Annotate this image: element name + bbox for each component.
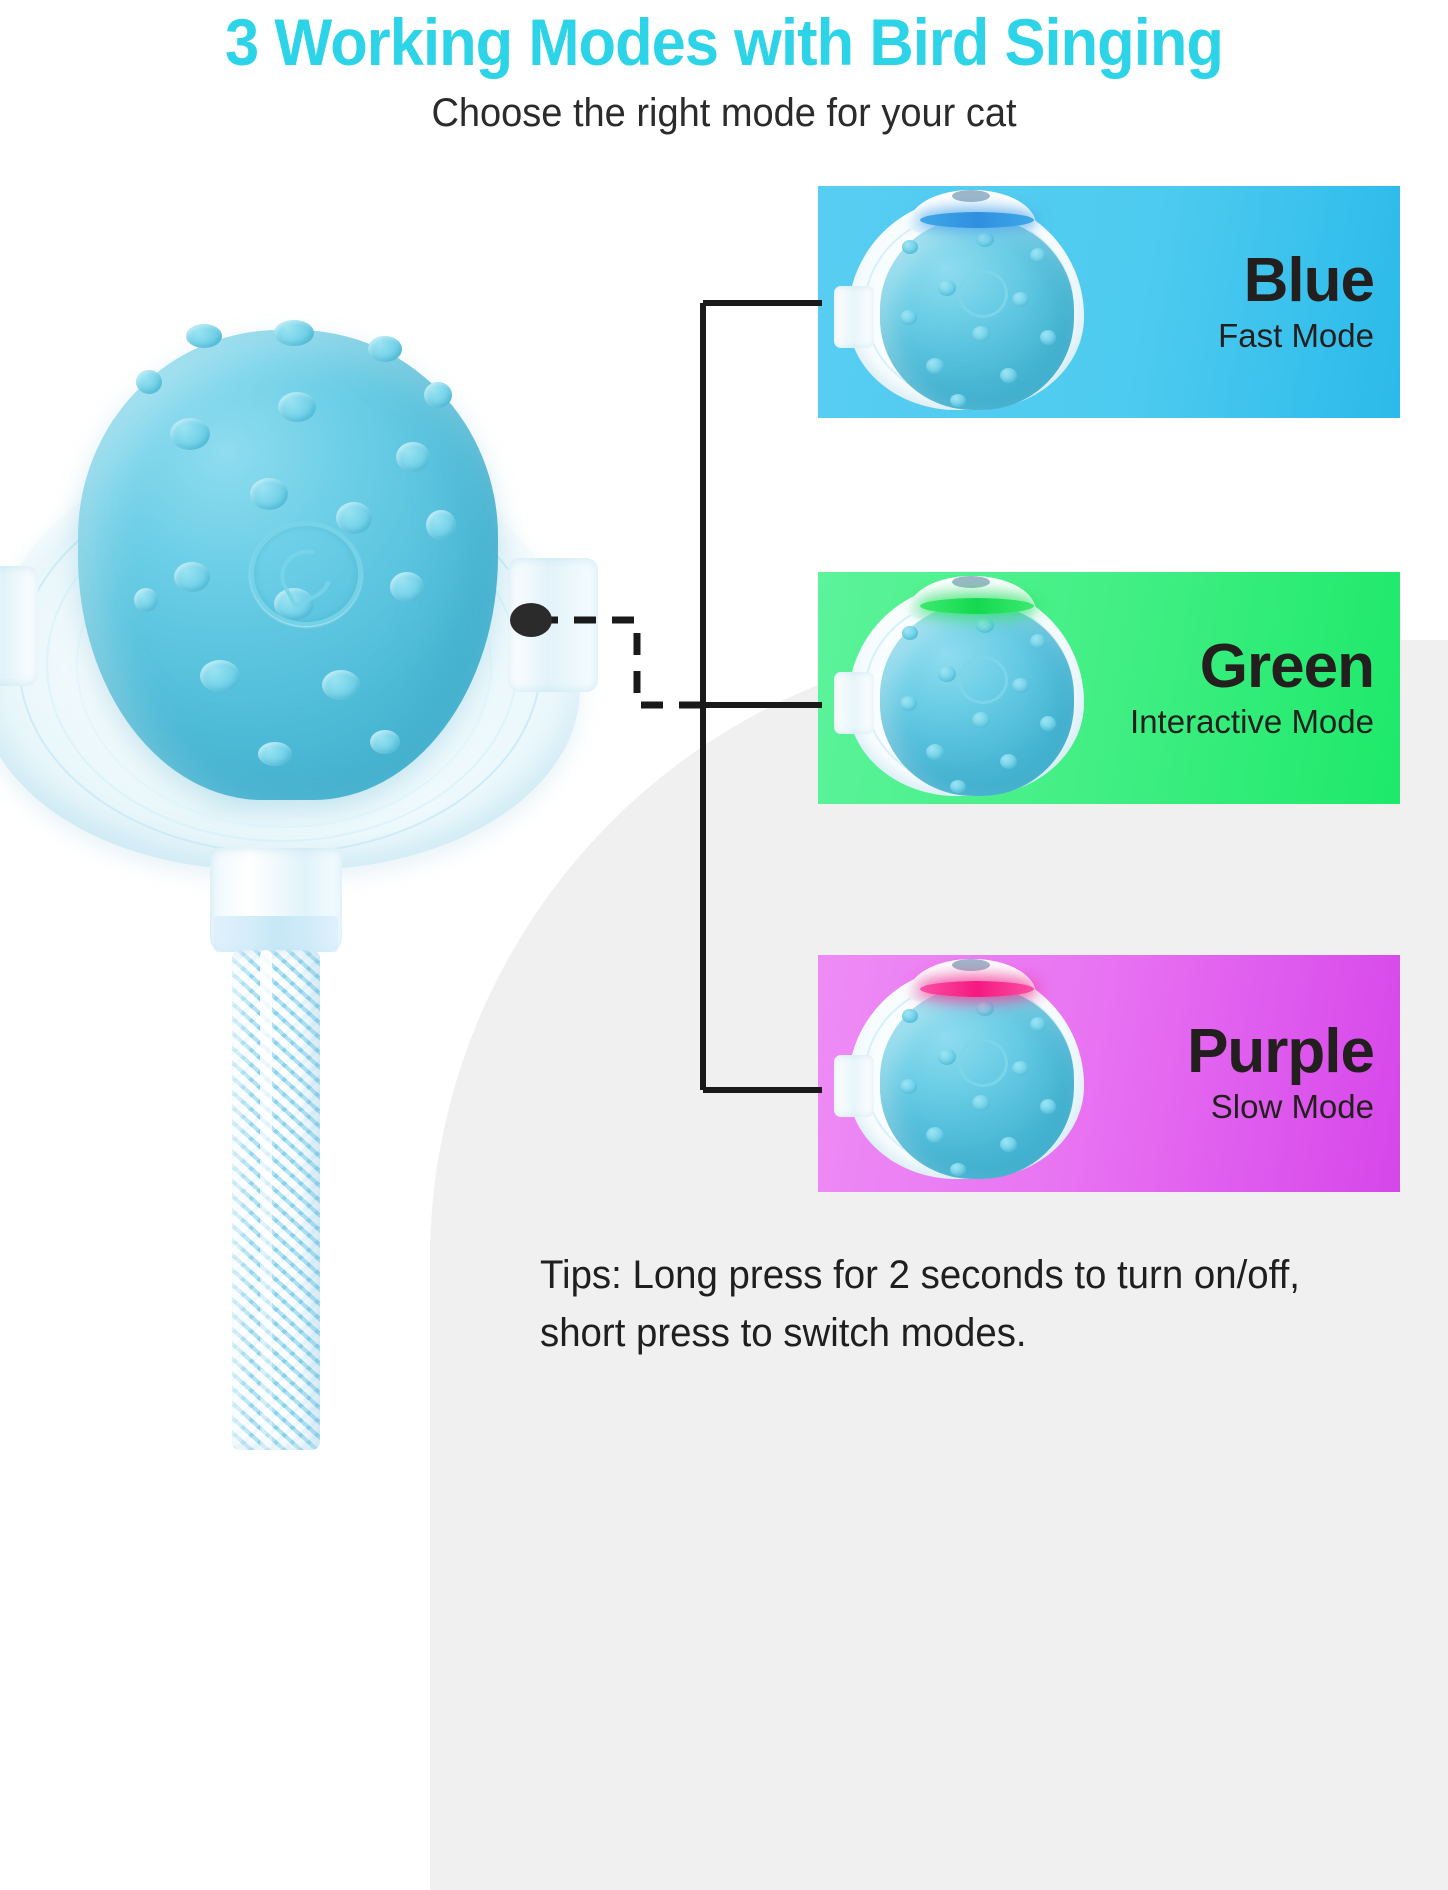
tail-highlight [260,950,272,1450]
mode-card-purple-text: Purple Slow Mode [1187,955,1374,1192]
led-ring-blue [920,212,1034,228]
mode-name: Purple [1187,1021,1374,1083]
mode-card-green-photo [834,576,1094,800]
mini-side-port [834,286,874,348]
page-title: 3 Working Modes with Bird Singing [51,8,1398,77]
mini-side-port [834,1055,874,1117]
led-ring-green [920,598,1034,614]
mode-card-purple-photo [834,959,1094,1183]
product-braided-tail [232,950,320,1450]
mode-description: Slow Mode [1211,1089,1374,1125]
mini-silicone-ball [880,987,1074,1179]
product-silicone-ball [78,330,498,800]
tips-block: Tips: Long press for 2 seconds to turn o… [540,1246,1385,1362]
mini-brand-logo [958,1039,1008,1087]
mode-name: Green [1200,636,1374,698]
tips-line-2: short press to switch modes. [540,1304,1385,1362]
mode-card-purple[interactable]: Purple Slow Mode [818,955,1400,1192]
shell-side-port-left [0,566,38,686]
mini-shell-cap [952,190,990,202]
mode-card-blue-text: Blue Fast Mode [1218,186,1374,418]
header: 3 Working Modes with Bird Singing Choose… [0,0,1448,135]
mini-shell-cap [952,959,990,971]
mini-silicone-ball [880,604,1074,796]
mode-card-green[interactable]: Green Interactive Mode [818,572,1400,804]
brand-logo-emboss [250,522,362,626]
mode-card-blue-photo [834,190,1094,414]
product-neck-band [214,916,338,952]
mini-side-port [834,672,874,734]
led-ring-pink [920,981,1034,997]
mode-name: Blue [1244,250,1374,312]
mode-card-green-text: Green Interactive Mode [1130,572,1374,804]
mini-shell-cap [952,576,990,588]
mini-brand-logo [958,270,1008,318]
mode-card-blue[interactable]: Blue Fast Mode [818,186,1400,418]
tips-line-1: Tips: Long press for 2 seconds to turn o… [540,1246,1385,1304]
shell-side-port-right [508,558,598,692]
mini-brand-logo [958,656,1008,704]
mini-silicone-ball [880,218,1074,410]
page-subtitle: Choose the right mode for your cat [36,91,1412,135]
mode-description: Fast Mode [1218,318,1374,354]
mode-description: Interactive Mode [1130,704,1374,740]
